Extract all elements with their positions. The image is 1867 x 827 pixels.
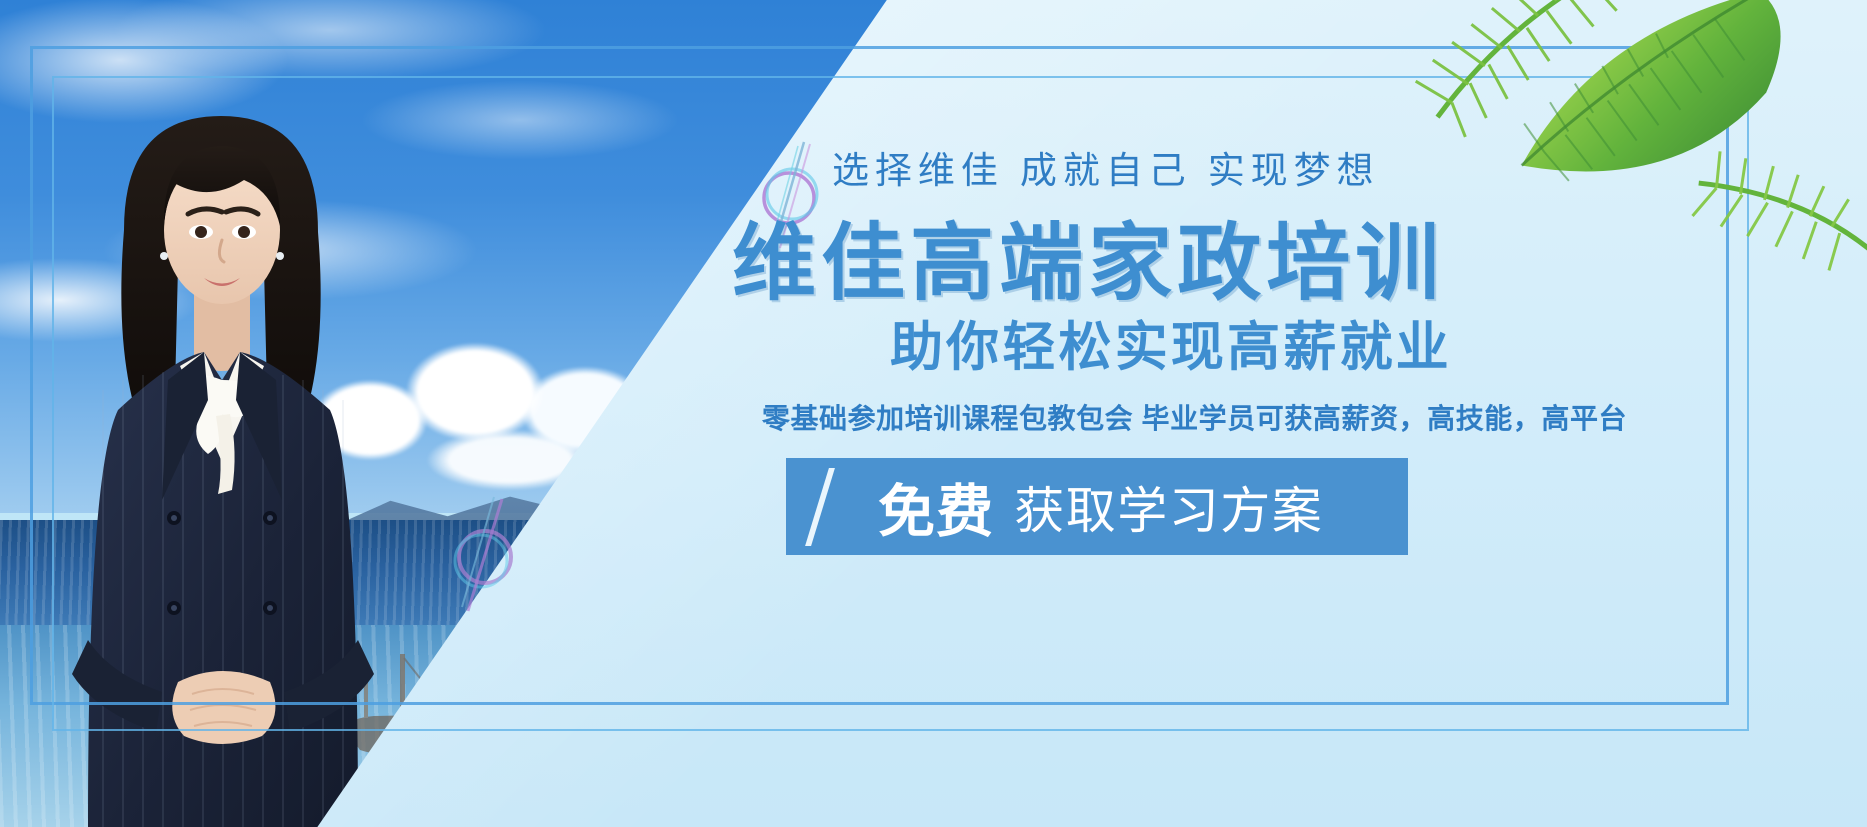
cta-emphasis-label: 免费 [878, 466, 994, 548]
free-plan-cta-button[interactable]: 免费 获取学习方案 [786, 458, 1408, 555]
promo-banner: 选择维佳 成就自己 实现梦想 维佳高端家政培训 助你轻松实现高薪就业 零基础参加… [0, 0, 1867, 827]
page-title: 维佳高端家政培训 [732, 196, 1444, 317]
cta-label: 获取学习方案 [1014, 471, 1323, 543]
slash-icon [805, 468, 835, 546]
tagline: 选择维佳 成就自己 实现梦想 [832, 140, 1379, 194]
subheadline: 助你轻松实现高薪就业 [890, 305, 1452, 381]
circle-accent-mark-secondary [440, 495, 530, 615]
text-content: 选择维佳 成就自己 实现梦想 维佳高端家政培训 助你轻松实现高薪就业 零基础参加… [600, 0, 1867, 827]
body-description: 零基础参加培训课程包教包会 毕业学员可获高薪资，高技能，高平台 [522, 397, 1867, 437]
